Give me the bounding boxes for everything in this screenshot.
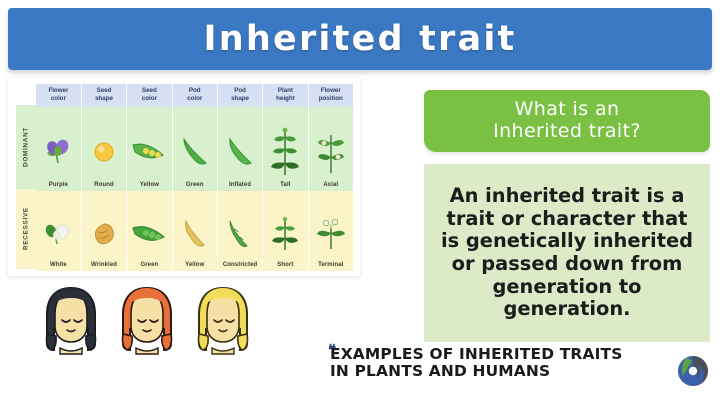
face-illustration-red-hair xyxy=(114,282,180,356)
caption-line-1: EXAMPLES OF INHERITED TRAITS xyxy=(330,346,660,363)
page-title: Inherited trait xyxy=(204,19,517,59)
axial-flower-icon xyxy=(309,124,353,180)
cell-label: Inflated xyxy=(218,182,262,188)
cell-label: Green xyxy=(127,262,171,268)
short-plant-icon xyxy=(263,208,307,260)
column-header-seed-color: Seed color xyxy=(127,84,172,107)
cell-dominant-flower-color: Purple xyxy=(36,107,81,191)
brand-logo-icon xyxy=(676,354,710,388)
cell-recessive-pod-color: Yellow xyxy=(172,191,217,271)
open-pod-yellow-peas-icon xyxy=(127,124,171,180)
definition-box: An inherited trait is a trait or charact… xyxy=(424,164,710,342)
header-line-2: shape xyxy=(83,95,125,103)
table-header-row: Flower color Seed shape Seed color Pod c… xyxy=(36,84,354,107)
cell-label: Tall xyxy=(263,182,307,188)
header-line-1: Pod xyxy=(219,87,261,95)
round-seed-icon xyxy=(82,124,126,180)
definition-text: An inherited trait is a trait or charact… xyxy=(436,185,698,321)
face-illustration-black-hair xyxy=(38,282,104,356)
cell-label: Axial xyxy=(309,182,353,188)
bottom-caption: EXAMPLES OF INHERITED TRAITS IN PLANTS A… xyxy=(330,346,660,381)
question-line-2: Inherited trait? xyxy=(493,121,641,143)
terminal-flower-icon xyxy=(309,208,353,260)
question-line-1: What is an xyxy=(515,99,620,121)
header-line-1: Seed xyxy=(83,87,125,95)
cell-dominant-seed-shape: Round xyxy=(81,107,126,191)
wrinkled-seed-icon xyxy=(82,208,126,260)
cell-recessive-seed-shape: Wrinkled xyxy=(81,191,126,271)
header-line-1: Flower xyxy=(310,87,352,95)
row-label-recessive: RECESSIVE xyxy=(16,189,36,269)
cell-label: White xyxy=(36,262,81,268)
cell-recessive-pod-shape: Constricted xyxy=(217,191,262,271)
header-line-2: color xyxy=(174,95,216,103)
cell-label: Short xyxy=(263,262,307,268)
face-illustration-blonde-hair xyxy=(190,282,256,356)
cell-label: Wrinkled xyxy=(82,262,126,268)
cell-recessive-flower-position: Terminal xyxy=(308,191,353,271)
cell-label: Constricted xyxy=(218,262,262,268)
header-line-1: Plant xyxy=(264,87,306,95)
header-line-2: color xyxy=(128,95,170,103)
header-line-2: color xyxy=(37,95,80,103)
page-header-bar: Inherited trait xyxy=(8,8,712,70)
cell-dominant-pod-color: Green xyxy=(172,107,217,191)
header-line-1: Seed xyxy=(128,87,170,95)
cell-recessive-plant-height: Short xyxy=(263,191,308,271)
header-line-2: position xyxy=(310,95,352,103)
cell-label: Round xyxy=(82,182,126,188)
column-header-flower-color: Flower color xyxy=(36,84,81,107)
header-line-1: Flower xyxy=(37,87,80,95)
tall-plant-icon xyxy=(263,124,307,180)
yellow-pod-icon xyxy=(173,208,217,260)
green-pea-pod-icon xyxy=(127,208,171,260)
cell-label: Terminal xyxy=(309,262,353,268)
question-banner: What is an Inherited trait? xyxy=(424,90,710,152)
header-line-2: shape xyxy=(219,95,261,103)
column-header-flower-position: Flower position xyxy=(308,84,353,107)
cell-dominant-pod-shape: Inflated xyxy=(217,107,262,191)
trait-table-card: DOMINANT RECESSIVE Flower color Seed sha… xyxy=(8,78,360,276)
cell-dominant-flower-position: Axial xyxy=(308,107,353,191)
cell-label: Yellow xyxy=(127,182,171,188)
column-header-seed-shape: Seed shape xyxy=(81,84,126,107)
caption-line-2: IN PLANTS AND HUMANS xyxy=(330,363,660,380)
human-hair-color-examples xyxy=(38,282,256,356)
row-label-dominant: DOMINANT xyxy=(16,105,36,189)
cell-recessive-flower-color: White xyxy=(36,191,81,271)
cell-label: Green xyxy=(173,182,217,188)
header-line-1: Pod xyxy=(174,87,216,95)
header-line-2: height xyxy=(264,95,306,103)
column-header-pod-shape: Pod shape xyxy=(217,84,262,107)
inflated-pod-icon xyxy=(218,124,262,180)
white-flower-icon xyxy=(36,208,81,260)
purple-flower-icon xyxy=(36,124,81,180)
cell-dominant-plant-height: Tall xyxy=(263,107,308,191)
table-row-recessive: White Wrinkled xyxy=(36,191,354,271)
column-header-pod-color: Pod color xyxy=(172,84,217,107)
column-header-plant-height: Plant height xyxy=(263,84,308,107)
cell-dominant-seed-color: Yellow xyxy=(127,107,172,191)
cell-recessive-seed-color: Green xyxy=(127,191,172,271)
cell-label: Yellow xyxy=(173,262,217,268)
mendel-trait-table: Flower color Seed shape Seed color Pod c… xyxy=(36,84,354,271)
green-pod-icon xyxy=(173,124,217,180)
constricted-pod-icon xyxy=(218,208,262,260)
cell-label: Purple xyxy=(36,182,81,188)
table-row-dominant: Purple Round xyxy=(36,107,354,191)
